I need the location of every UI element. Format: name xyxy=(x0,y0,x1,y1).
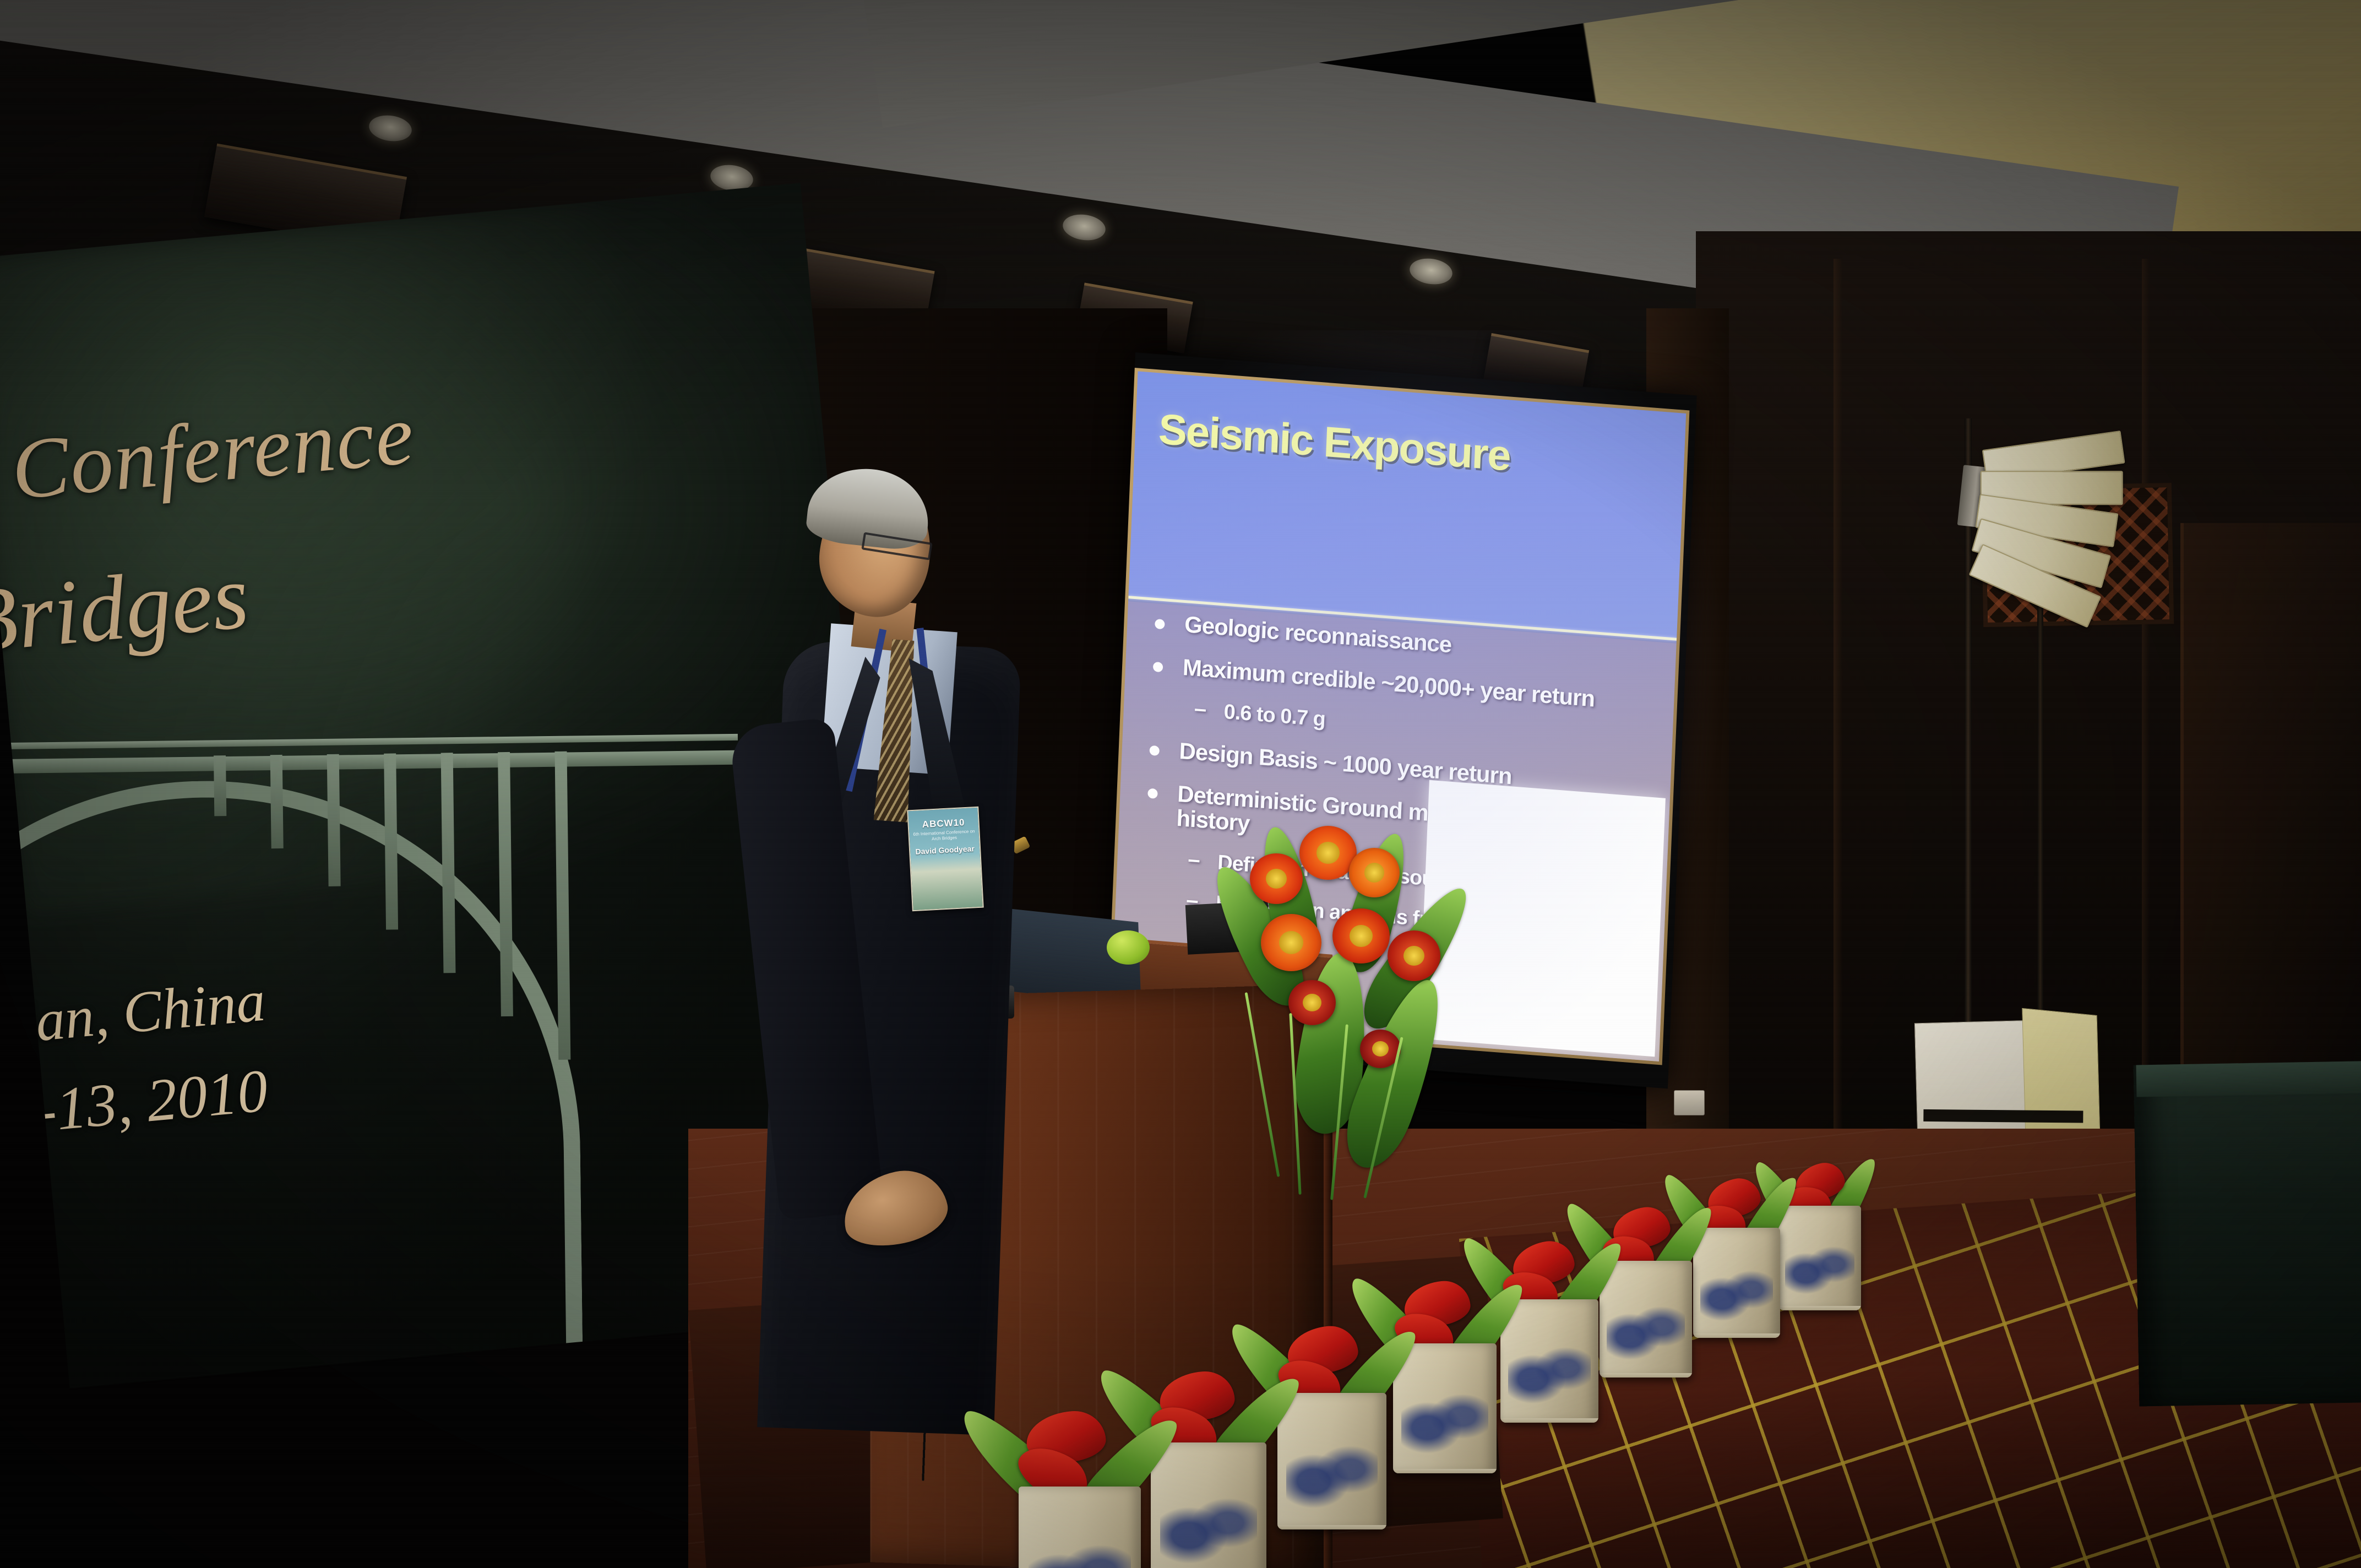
porcelain-pot xyxy=(1151,1442,1266,1568)
conference-badge: ABCW10 6th International Conference on A… xyxy=(907,807,983,912)
potted-poinsettia xyxy=(1393,1343,1514,1558)
potted-poinsettia xyxy=(1019,1487,1162,1568)
bridge-deck xyxy=(0,750,739,775)
draped-table xyxy=(2134,1060,2361,1407)
bridge-column xyxy=(327,754,341,886)
subwoofer-port-slot xyxy=(1923,1109,2083,1123)
wall-panel-seam-2 xyxy=(2142,259,2150,1085)
bridge-column xyxy=(498,752,513,1016)
bridge-railing xyxy=(0,734,738,750)
bouquet-grass-blade xyxy=(1245,992,1280,1177)
bridge-column xyxy=(270,755,284,848)
potted-poinsettia xyxy=(1151,1442,1286,1568)
bridge-column xyxy=(214,755,226,816)
potted-poinsettia xyxy=(1277,1393,1404,1568)
wall-panel-seam-1 xyxy=(1834,259,1842,1151)
porcelain-pot xyxy=(1500,1299,1598,1423)
wall-door-frame xyxy=(2180,523,2361,1101)
presenter: ABCW10 6th International Conference on A… xyxy=(760,462,1145,1568)
flower-bouquet xyxy=(1228,793,1492,1211)
porcelain-pot xyxy=(1277,1393,1386,1529)
bridge-column xyxy=(384,753,398,929)
line-array-speaker xyxy=(1968,433,2139,613)
gerbera-flower xyxy=(1261,914,1321,971)
porcelain-pot xyxy=(1019,1487,1141,1568)
gerbera-flower xyxy=(1349,848,1400,897)
pot-rim xyxy=(1277,1525,1386,1529)
bridge-column xyxy=(555,752,571,1060)
wall-outlet xyxy=(1674,1090,1705,1115)
badge-event-subtitle: 6th International Conference on Arch Bri… xyxy=(909,829,979,843)
bridge-column xyxy=(441,753,456,973)
pot-rim xyxy=(1393,1469,1497,1473)
potted-poinsettia xyxy=(1500,1299,1616,1503)
photo-scene: al Conference Bridges jian, China 1-13, … xyxy=(0,0,2361,1568)
gerbera-flower xyxy=(1299,826,1357,880)
gerbera-flower xyxy=(1388,930,1440,981)
gerbera-flower xyxy=(1332,908,1390,963)
draped-table-top xyxy=(2136,1060,2361,1097)
gerbera-flower xyxy=(1250,853,1303,904)
badge-attendee-name: David Goodyear xyxy=(910,844,980,857)
pot-rim xyxy=(1500,1418,1598,1423)
gerbera-flower xyxy=(1288,980,1336,1025)
potted-poinsettia xyxy=(1600,1261,1710,1453)
porcelain-pot xyxy=(1393,1343,1497,1473)
